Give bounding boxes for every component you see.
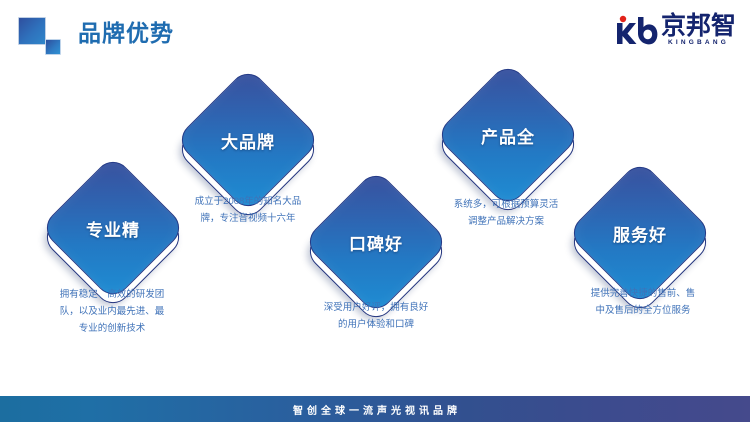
feature-card-2[interactable]: 大品牌 — [196, 88, 300, 192]
diamond-shape-4: 产品全 — [456, 83, 560, 187]
header-decoration — [18, 17, 74, 53]
feature-card-1[interactable]: 专业精 — [61, 176, 165, 280]
feature-description-2: 成立于2008年的知名大品 牌，专注音视频十六年 — [155, 193, 341, 227]
feature-label-2: 大品牌 — [196, 88, 300, 192]
footer-bar: 智创全球一流声光视讯品牌 — [0, 396, 750, 422]
slide-canvas: 品牌优势 京邦智 KINGBANG 专业精 拥有稳定、高效的研发团 队，以及业内… — [0, 0, 750, 422]
square-small-icon — [45, 39, 61, 55]
logo-wordmark: 京邦智 KINGBANG — [658, 13, 736, 47]
diamond-shape-5: 服务好 — [588, 181, 692, 285]
brand-logo: 京邦智 KINGBANG — [612, 13, 736, 47]
feature-label-4: 产品全 — [456, 83, 560, 187]
feature-card-5[interactable]: 服务好 — [588, 181, 692, 285]
logo-chinese: 京邦智 — [661, 13, 736, 39]
logo-english: KINGBANG — [661, 39, 736, 47]
diamond-shape-2: 大品牌 — [196, 88, 300, 192]
kb-monogram-icon — [612, 15, 658, 47]
page-title: 品牌优势 — [78, 14, 174, 48]
feature-description-5: 提供完善快捷的售前、售 中及售后的全方位服务 — [545, 285, 741, 319]
diamond-shape-1: 专业精 — [61, 176, 165, 280]
feature-label-1: 专业精 — [61, 176, 165, 280]
feature-label-5: 服务好 — [588, 181, 692, 285]
feature-card-4[interactable]: 产品全 — [456, 83, 560, 187]
feature-description-1: 拥有稳定、高效的研发团 队，以及业内最先进、最 专业的创新技术 — [12, 286, 212, 337]
footer-slogan: 智创全球一流声光视讯品牌 — [289, 402, 461, 417]
square-large-icon — [18, 17, 46, 45]
feature-description-3: 深受用户好评，拥有良好 的用户体验和口碑 — [283, 299, 469, 333]
feature-description-4: 系统多，可根据预算灵活 调整产品解决方案 — [413, 196, 599, 230]
